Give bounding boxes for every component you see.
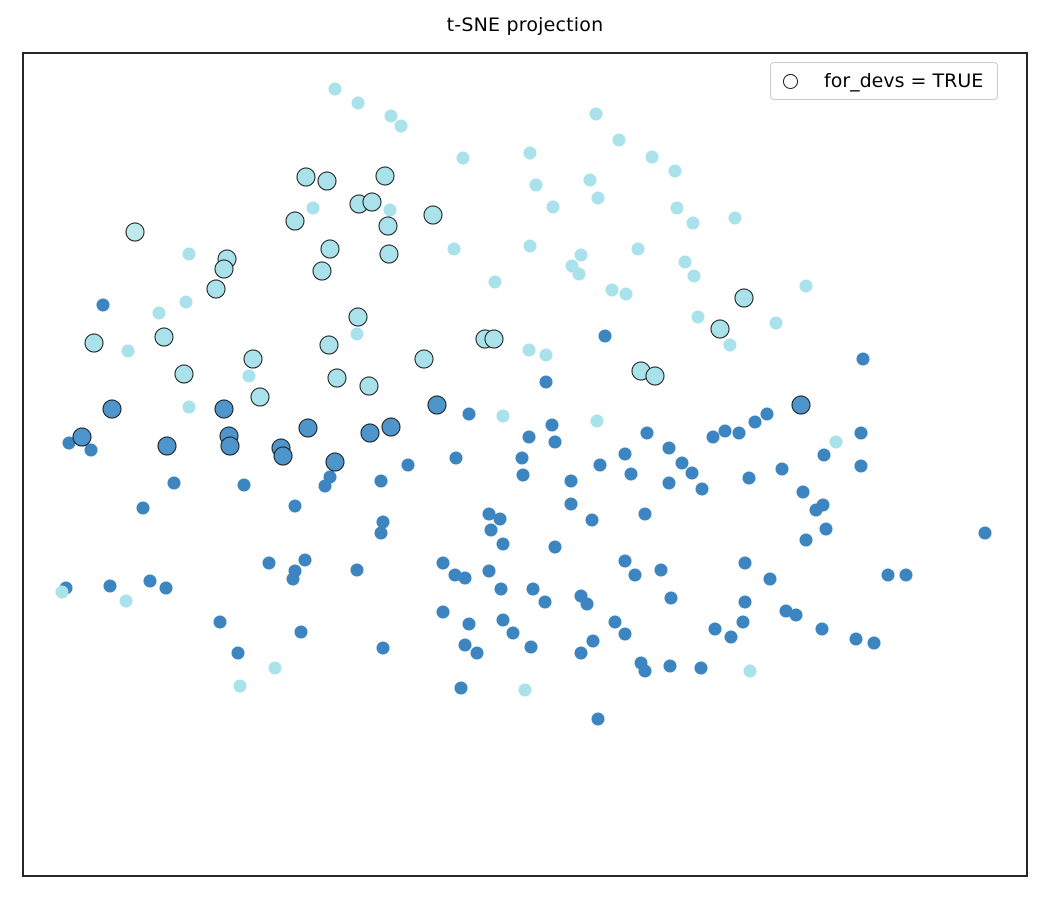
scatter-point bbox=[978, 526, 991, 539]
scatter-point bbox=[97, 299, 110, 312]
scatter-point bbox=[288, 499, 301, 512]
scatter-point bbox=[549, 540, 562, 553]
scatter-point bbox=[493, 512, 506, 525]
scatter-point bbox=[516, 469, 529, 482]
scatter-point bbox=[799, 534, 812, 547]
scatter-point bbox=[613, 134, 626, 147]
scatter-point-dev bbox=[85, 333, 104, 352]
scatter-point bbox=[436, 557, 449, 570]
scatter-point bbox=[769, 317, 782, 330]
scatter-point-dev bbox=[317, 172, 336, 191]
scatter-point bbox=[120, 594, 133, 607]
scatter-point bbox=[547, 200, 560, 213]
scatter-point bbox=[854, 460, 867, 473]
scatter-point bbox=[899, 568, 912, 581]
scatter-point bbox=[819, 522, 832, 535]
scatter-point bbox=[234, 680, 247, 693]
scatter-point-dev bbox=[375, 166, 394, 185]
scatter-point bbox=[591, 414, 604, 427]
legend-item-label: for_devs = TRUE bbox=[824, 70, 983, 92]
scatter-point bbox=[328, 83, 341, 96]
scatter-point bbox=[856, 353, 869, 366]
scatter-point-dev bbox=[312, 261, 331, 280]
scatter-point bbox=[376, 642, 389, 655]
scatter-point bbox=[632, 242, 645, 255]
scatter-point bbox=[137, 502, 150, 515]
scatter-point bbox=[641, 427, 654, 440]
plot-frame bbox=[22, 52, 1028, 877]
legend[interactable]: for_devs = TRUE bbox=[770, 62, 998, 100]
scatter-point bbox=[729, 212, 742, 225]
scatter-point bbox=[629, 568, 642, 581]
scatter-point-dev bbox=[103, 399, 122, 418]
scatter-point bbox=[523, 343, 536, 356]
scatter-point bbox=[496, 410, 509, 423]
scatter-point bbox=[733, 427, 746, 440]
scatter-point bbox=[458, 639, 471, 652]
scatter-point-dev bbox=[244, 350, 263, 369]
scatter-point bbox=[592, 191, 605, 204]
scatter-point bbox=[56, 585, 69, 598]
scatter-point bbox=[739, 557, 752, 570]
scatter-point bbox=[298, 553, 311, 566]
scatter-point bbox=[749, 415, 762, 428]
scatter-point bbox=[764, 573, 777, 586]
scatter-point bbox=[506, 626, 519, 639]
scatter-point bbox=[724, 339, 737, 352]
scatter-point bbox=[646, 150, 659, 163]
scatter-point bbox=[707, 431, 720, 444]
scatter-point bbox=[183, 247, 196, 260]
scatter-point bbox=[524, 146, 537, 159]
scatter-point bbox=[294, 625, 307, 638]
scatter-point bbox=[183, 401, 196, 414]
scatter-point bbox=[849, 632, 862, 645]
scatter-point-dev bbox=[155, 328, 174, 347]
scatter-point bbox=[817, 449, 830, 462]
scatter-point-dev bbox=[360, 424, 379, 443]
scatter-point bbox=[122, 345, 135, 358]
scatter-point bbox=[796, 486, 809, 499]
scatter-point-dev bbox=[319, 336, 338, 355]
scatter-point bbox=[243, 369, 256, 382]
scatter-point bbox=[449, 451, 462, 464]
scatter-point bbox=[663, 476, 676, 489]
scatter-point-dev bbox=[484, 329, 503, 348]
scatter-point bbox=[620, 287, 633, 300]
scatter-point bbox=[515, 451, 528, 464]
scatter-point bbox=[85, 443, 98, 456]
scatter-point bbox=[496, 538, 509, 551]
scatter-point bbox=[619, 555, 632, 568]
scatter-point bbox=[232, 647, 245, 660]
scatter-point bbox=[606, 284, 619, 297]
scatter-point bbox=[524, 240, 537, 253]
scatter-point-dev bbox=[320, 240, 339, 259]
scatter-point bbox=[739, 596, 752, 609]
scatter-point bbox=[590, 107, 603, 120]
scatter-point bbox=[619, 447, 632, 460]
scatter-point bbox=[527, 583, 540, 596]
scatter-point bbox=[686, 466, 699, 479]
tsne-scatter-figure: t-SNE projection for_devs = TRUE bbox=[0, 0, 1050, 900]
scatter-point bbox=[456, 152, 469, 165]
scatter-point bbox=[214, 616, 227, 629]
scatter-point-dev bbox=[423, 205, 442, 224]
scatter-point bbox=[687, 217, 700, 230]
scatter-point bbox=[306, 201, 319, 214]
scatter-point bbox=[519, 684, 532, 697]
scatter-point bbox=[454, 681, 467, 694]
scatter-point bbox=[540, 375, 553, 388]
scatter-point bbox=[679, 255, 692, 268]
scatter-point bbox=[809, 504, 822, 517]
scatter-point-dev bbox=[327, 369, 346, 388]
plot-area[interactable] bbox=[24, 54, 1026, 875]
scatter-point bbox=[775, 463, 788, 476]
scatter-point bbox=[789, 608, 802, 621]
scatter-point bbox=[688, 269, 701, 282]
scatter-point bbox=[286, 573, 299, 586]
scatter-point bbox=[383, 203, 396, 216]
scatter-point bbox=[318, 479, 331, 492]
scatter-point-dev bbox=[379, 244, 398, 263]
scatter-point bbox=[881, 568, 894, 581]
scatter-point-dev bbox=[646, 366, 665, 385]
scatter-point bbox=[854, 427, 867, 440]
scatter-point-dev bbox=[711, 320, 730, 339]
scatter-point bbox=[565, 474, 578, 487]
scatter-point bbox=[743, 472, 756, 485]
scatter-point-dev bbox=[359, 376, 378, 395]
scatter-point bbox=[350, 327, 363, 340]
scatter-point bbox=[815, 622, 828, 635]
scatter-point bbox=[401, 458, 414, 471]
scatter-point bbox=[761, 407, 774, 420]
scatter-point bbox=[263, 557, 276, 570]
scatter-point-dev bbox=[348, 307, 367, 326]
scatter-point bbox=[168, 476, 181, 489]
scatter-point bbox=[665, 591, 678, 604]
scatter-point bbox=[436, 606, 449, 619]
scatter-point bbox=[829, 435, 842, 448]
scatter-point bbox=[546, 419, 559, 432]
scatter-point bbox=[725, 630, 738, 643]
scatter-point bbox=[599, 330, 612, 343]
scatter-point bbox=[719, 424, 732, 437]
scatter-point bbox=[737, 616, 750, 629]
scatter-point bbox=[663, 442, 676, 455]
scatter-point-dev bbox=[215, 260, 234, 279]
scatter-point bbox=[671, 202, 684, 215]
scatter-point bbox=[447, 242, 460, 255]
scatter-point bbox=[609, 616, 622, 629]
scatter-point-dev bbox=[414, 350, 433, 369]
scatter-point bbox=[799, 279, 812, 292]
scatter-point bbox=[587, 635, 600, 648]
scatter-point bbox=[655, 564, 668, 577]
scatter-point bbox=[639, 665, 652, 678]
scatter-point bbox=[374, 527, 387, 540]
scatter-point bbox=[539, 596, 552, 609]
scatter-point bbox=[525, 640, 538, 653]
scatter-point bbox=[268, 662, 281, 675]
scatter-point bbox=[594, 458, 607, 471]
scatter-point-dev bbox=[325, 453, 344, 472]
scatter-point-dev bbox=[221, 437, 240, 456]
scatter-point-dev bbox=[427, 396, 446, 415]
scatter-point bbox=[462, 407, 475, 420]
scatter-point bbox=[744, 665, 757, 678]
scatter-point-dev bbox=[735, 288, 754, 307]
scatter-point-dev bbox=[296, 168, 315, 187]
scatter-point bbox=[153, 306, 166, 319]
scatter-point bbox=[104, 580, 117, 593]
scatter-point bbox=[581, 598, 594, 611]
scatter-point bbox=[669, 165, 682, 178]
scatter-point bbox=[180, 295, 193, 308]
scatter-point bbox=[867, 637, 880, 650]
scatter-point-dev bbox=[381, 417, 400, 436]
scatter-point bbox=[144, 575, 157, 588]
scatter-point bbox=[664, 659, 677, 672]
scatter-point bbox=[709, 622, 722, 635]
scatter-point bbox=[592, 713, 605, 726]
scatter-point bbox=[530, 179, 543, 192]
scatter-point bbox=[470, 647, 483, 660]
scatter-point-dev bbox=[251, 388, 270, 407]
scatter-point bbox=[565, 497, 578, 510]
scatter-point bbox=[351, 97, 364, 110]
scatter-point bbox=[523, 430, 536, 443]
scatter-point-dev bbox=[158, 437, 177, 456]
scatter-point bbox=[586, 514, 599, 527]
scatter-point-dev bbox=[273, 447, 292, 466]
scatter-point bbox=[575, 647, 588, 660]
scatter-point bbox=[488, 276, 501, 289]
scatter-point bbox=[462, 617, 475, 630]
scatter-point bbox=[458, 571, 471, 584]
page-title: t-SNE projection bbox=[0, 14, 1050, 36]
scatter-point bbox=[692, 310, 705, 323]
scatter-point-dev bbox=[126, 223, 145, 242]
scatter-point bbox=[625, 468, 638, 481]
scatter-point-dev bbox=[791, 396, 810, 415]
scatter-point-dev bbox=[378, 216, 397, 235]
scatter-point bbox=[484, 524, 497, 537]
scatter-point bbox=[350, 563, 363, 576]
scatter-point bbox=[584, 173, 597, 186]
scatter-point bbox=[238, 479, 251, 492]
scatter-point bbox=[482, 565, 495, 578]
scatter-point bbox=[494, 583, 507, 596]
scatter-point bbox=[573, 268, 586, 281]
scatter-point-dev bbox=[285, 211, 304, 230]
scatter-point bbox=[374, 474, 387, 487]
scatter-point-dev bbox=[175, 365, 194, 384]
scatter-point bbox=[540, 349, 553, 362]
scatter-point-dev bbox=[207, 279, 226, 298]
scatter-point bbox=[160, 581, 173, 594]
scatter-point-dev bbox=[215, 400, 234, 419]
scatter-point bbox=[496, 614, 509, 627]
scatter-point bbox=[549, 435, 562, 448]
scatter-point-dev bbox=[298, 418, 317, 437]
scatter-point bbox=[619, 627, 632, 640]
scatter-point-dev bbox=[73, 427, 92, 446]
scatter-point bbox=[575, 249, 588, 262]
scatter-point bbox=[639, 507, 652, 520]
scatter-point bbox=[695, 662, 708, 675]
scatter-point bbox=[394, 120, 407, 133]
scatter-point-dev bbox=[362, 192, 381, 211]
scatter-point bbox=[696, 483, 709, 496]
legend-marker-circle-icon bbox=[783, 74, 798, 89]
